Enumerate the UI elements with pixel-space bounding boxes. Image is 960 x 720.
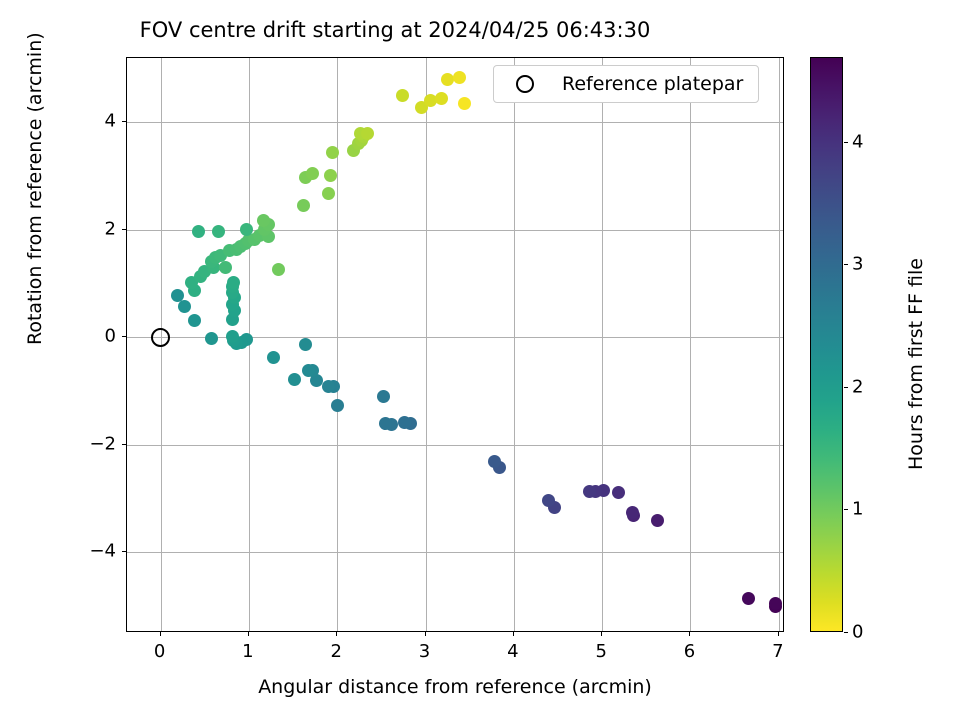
x-tick <box>425 632 426 636</box>
x-tick <box>689 632 690 636</box>
scatter-point <box>458 97 471 110</box>
colorbar-tick <box>844 264 848 265</box>
scatter-point <box>306 167 319 180</box>
chart-title: FOV centre drift starting at 2024/04/25 … <box>0 18 790 42</box>
colorbar-tick-label: 2 <box>852 376 863 397</box>
y-tick-label: 4 <box>36 111 116 132</box>
scatter-point <box>361 127 374 140</box>
scatter-point <box>272 263 285 276</box>
x-tick <box>513 632 514 636</box>
scatter-point <box>651 514 664 527</box>
colorbar-tick-label: 4 <box>852 131 863 152</box>
y-gridline <box>127 552 783 553</box>
x-axis-label: Angular distance from reference (arcmin) <box>126 676 784 698</box>
scatter-point <box>299 338 312 351</box>
y-gridline <box>127 122 783 123</box>
scatter-point <box>219 261 232 274</box>
legend-label-reference-platepar: Reference platepar <box>562 73 743 95</box>
x-tick <box>778 632 779 636</box>
scatter-point <box>742 592 755 605</box>
scatter-point <box>626 506 639 519</box>
y-tick-label: 2 <box>36 218 116 239</box>
scatter-point <box>612 486 625 499</box>
x-gridline <box>690 58 691 631</box>
scatter-point <box>297 199 310 212</box>
scatter-point <box>435 92 448 105</box>
colorbar-tick <box>844 387 848 388</box>
x-tick-label: 0 <box>154 641 165 662</box>
x-tick-label: 1 <box>242 641 253 662</box>
reference-platepar-point-icon <box>151 328 170 347</box>
scatter-point <box>396 89 409 102</box>
colorbar <box>810 57 843 632</box>
y-tick <box>122 336 126 337</box>
y-gridline <box>127 337 783 338</box>
y-tick <box>122 551 126 552</box>
colorbar-tick <box>844 509 848 510</box>
scatter-point <box>377 390 390 403</box>
colorbar-tick-label: 3 <box>852 254 863 275</box>
scatter-point <box>192 225 205 238</box>
y-gridline <box>127 230 783 231</box>
scatter-point <box>398 416 411 429</box>
y-tick <box>122 444 126 445</box>
scatter-point <box>178 300 191 313</box>
figure-canvas: FOV centre drift starting at 2024/04/25 … <box>0 0 960 720</box>
x-gridline <box>779 58 780 631</box>
scatter-point <box>188 314 201 327</box>
y-gridline <box>127 445 783 446</box>
scatter-point <box>205 332 218 345</box>
colorbar-tick-label: 0 <box>852 622 863 643</box>
scatter-point <box>257 214 270 227</box>
plot-area <box>126 57 784 632</box>
x-tick-label: 7 <box>772 641 783 662</box>
scatter-point <box>288 373 301 386</box>
x-tick-label: 5 <box>595 641 606 662</box>
reference-platepar-marker-icon <box>516 75 534 93</box>
y-tick-label: −4 <box>36 541 116 562</box>
scatter-point <box>171 289 184 302</box>
scatter-point <box>453 71 466 84</box>
x-tick-label: 3 <box>419 641 430 662</box>
x-gridline <box>602 58 603 631</box>
scatter-point <box>542 494 555 507</box>
x-tick <box>601 632 602 636</box>
x-tick <box>336 632 337 636</box>
legend[interactable]: Reference platepar <box>493 65 759 103</box>
scatter-point <box>331 399 344 412</box>
x-tick-label: 2 <box>330 641 341 662</box>
scatter-point <box>583 485 596 498</box>
scatter-point <box>322 187 335 200</box>
y-tick-label: −2 <box>36 433 116 454</box>
colorbar-label: Hours from first FF file <box>905 258 927 470</box>
scatter-point <box>441 73 454 86</box>
x-gridline <box>337 58 338 631</box>
colorbar-tick <box>844 632 848 633</box>
x-gridline <box>426 58 427 631</box>
colorbar-tick <box>844 142 848 143</box>
y-tick-label: 0 <box>36 326 116 347</box>
x-tick <box>160 632 161 636</box>
scatter-point <box>267 351 280 364</box>
scatter-point <box>324 169 337 182</box>
y-tick <box>122 121 126 122</box>
x-tick <box>248 632 249 636</box>
x-tick-label: 6 <box>684 641 695 662</box>
scatter-point <box>212 225 225 238</box>
x-tick-label: 4 <box>507 641 518 662</box>
colorbar-tick-label: 1 <box>852 499 863 520</box>
y-tick <box>122 229 126 230</box>
scatter-point <box>322 380 335 393</box>
x-gridline <box>514 58 515 631</box>
scatter-point <box>488 455 501 468</box>
y-axis-label: Rotation from reference (arcmin) <box>24 32 46 345</box>
